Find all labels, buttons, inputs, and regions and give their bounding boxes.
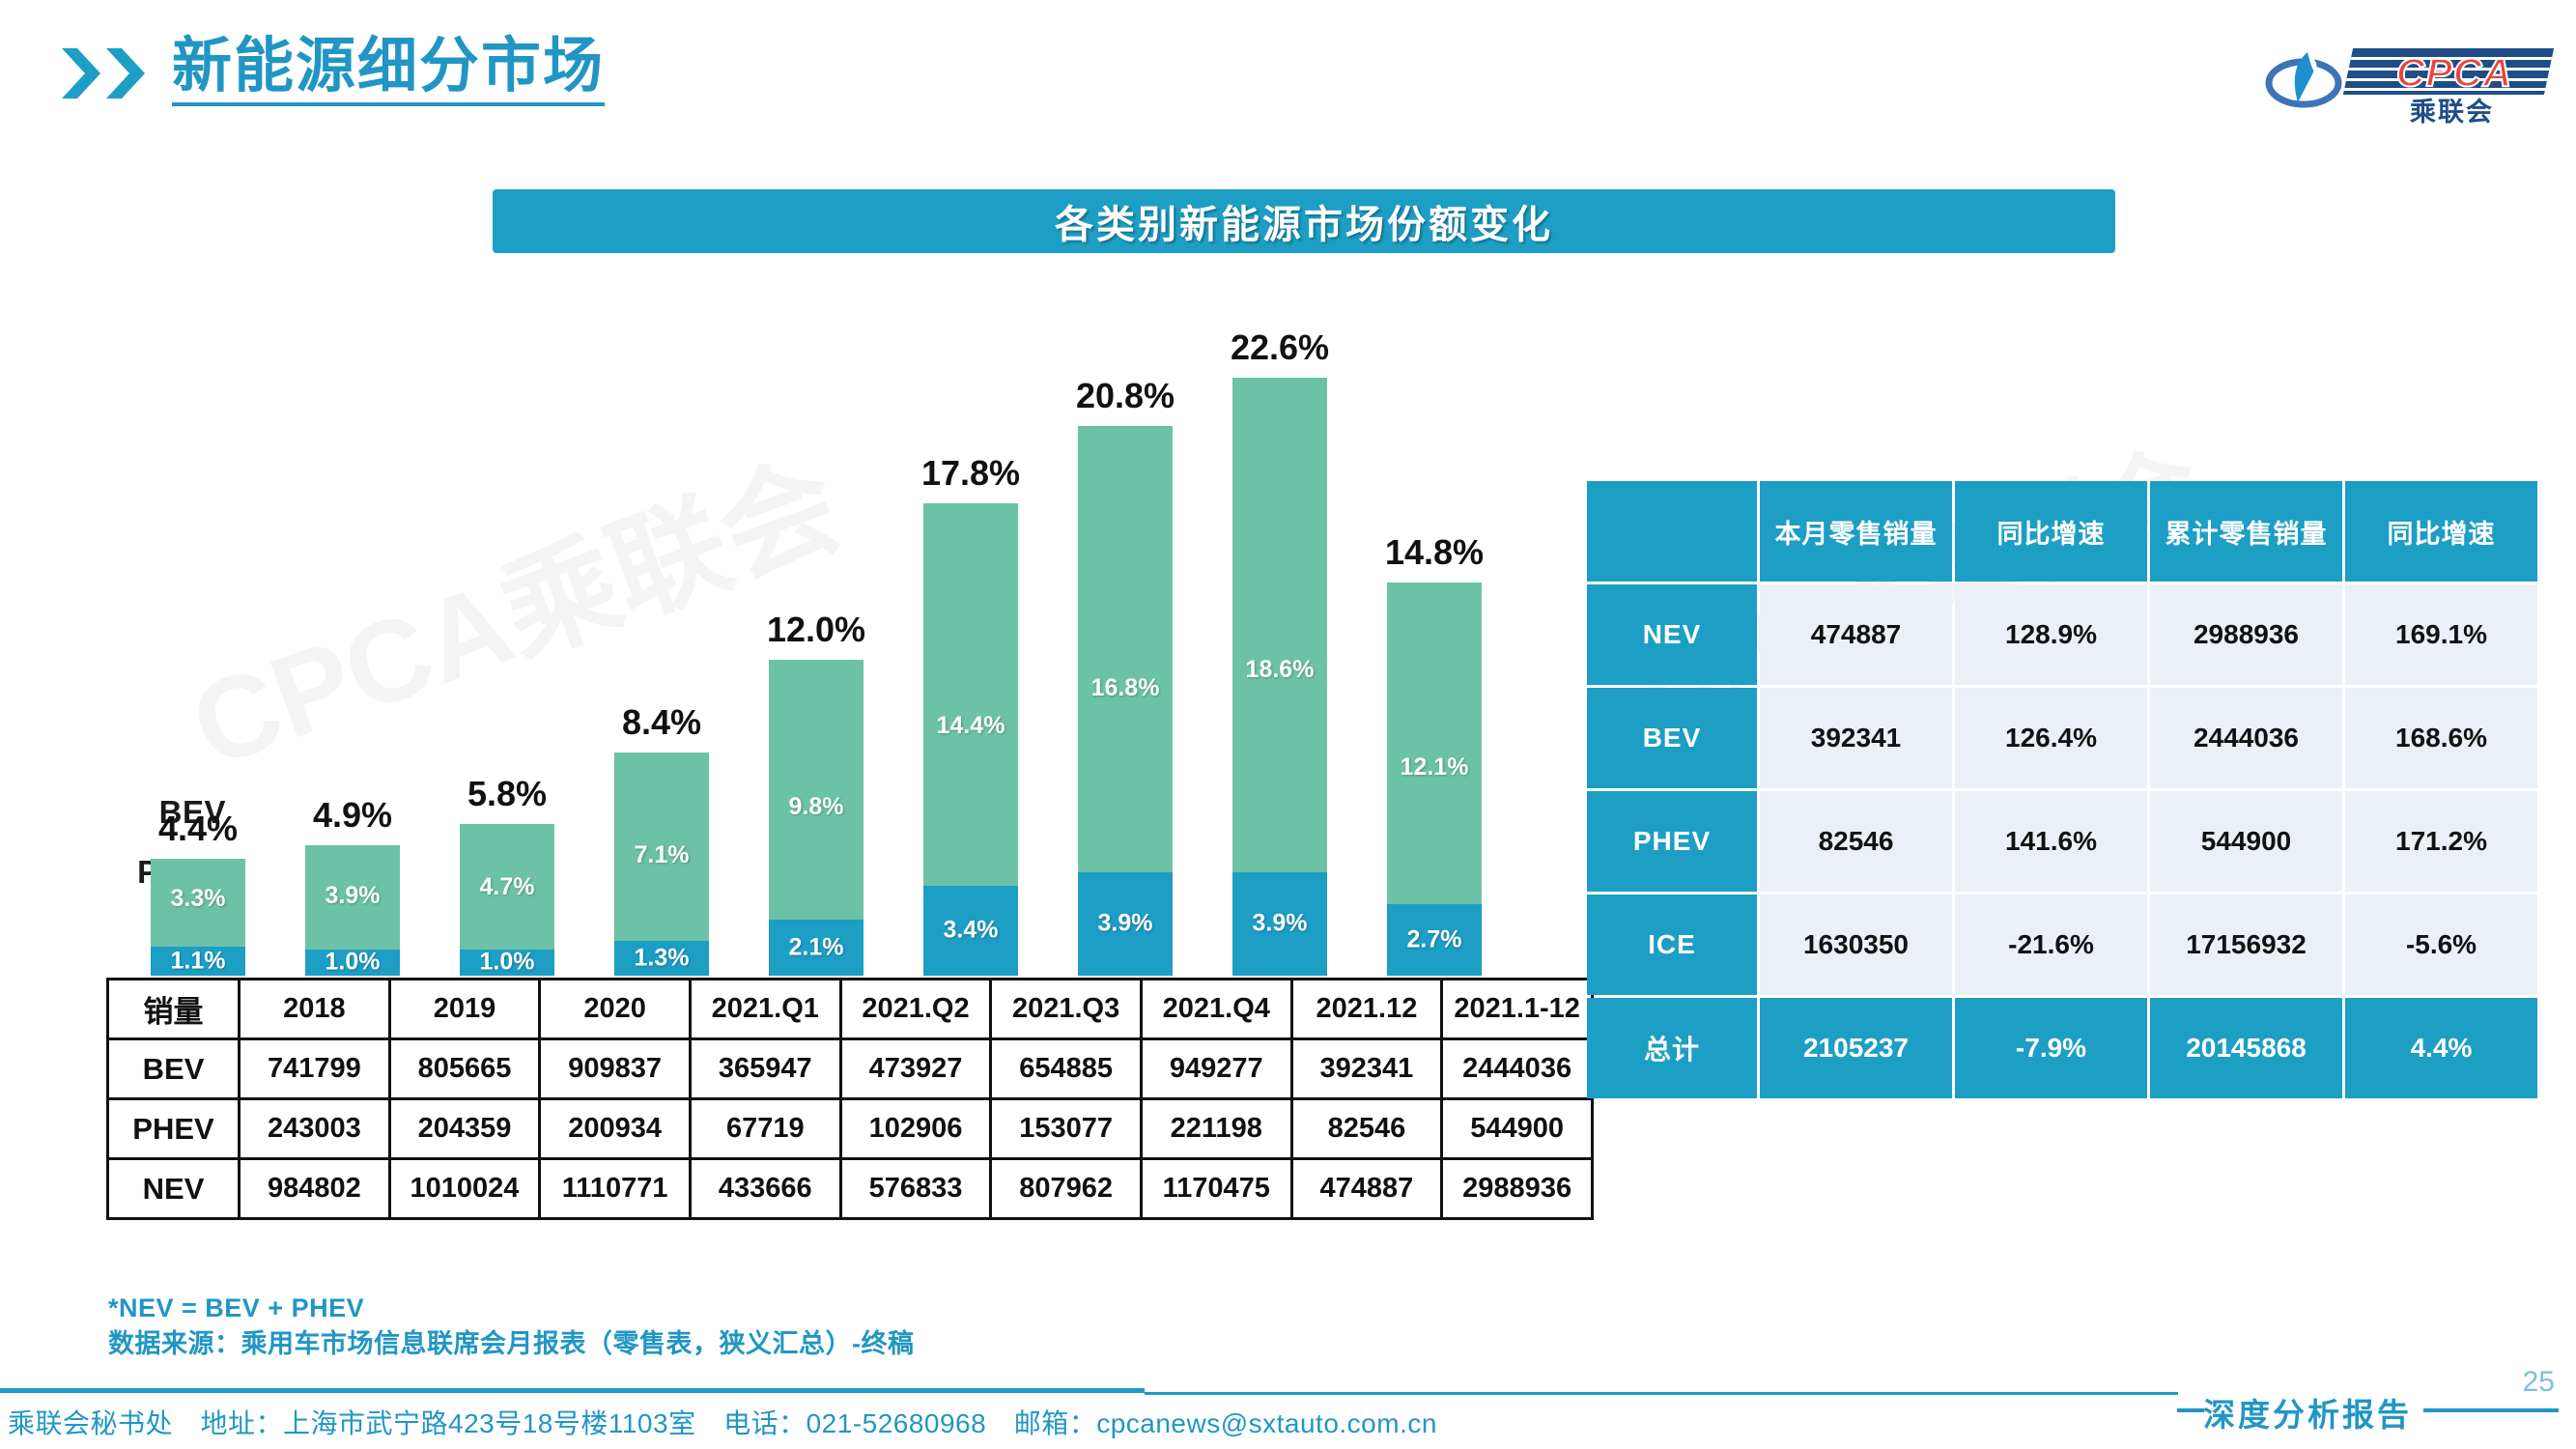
bar-total-label: 5.8% (410, 774, 604, 814)
summary-header-row: 本月零售销量同比增速累计零售销量同比增速 (1587, 481, 2537, 582)
table-cell: 365947 (690, 1039, 840, 1099)
bar-column: 4.4%3.3%1.1% (151, 859, 245, 976)
table-column-header: 2021.Q2 (840, 980, 991, 1039)
bar-total-label: 8.4% (565, 702, 758, 743)
table-corner-header: 销量 (108, 980, 240, 1039)
table-cell: 1110771 (540, 1159, 691, 1219)
table-header-row: 销量2018201920202021.Q12021.Q22021.Q32021.… (108, 980, 1593, 1039)
summary-cell: -5.6% (2345, 895, 2537, 995)
summary-cell: 82546 (1760, 791, 1952, 892)
bar-total-label: 20.8% (1029, 376, 1222, 416)
table-column-header: 2021.Q4 (1141, 980, 1291, 1039)
footnote-line-2: 数据来源：乘用车市场信息联席会月报表（零售表，狭义汇总）-终稿 (108, 1326, 915, 1362)
sales-volume-table: 销量2018201920202021.Q12021.Q22021.Q32021.… (106, 978, 1594, 1220)
cpca-swoosh-icon (2265, 48, 2342, 108)
table-cell: 474887 (1291, 1159, 1442, 1219)
bar-segment-phev: 1.1% (151, 947, 245, 976)
bar-segment-bev: 18.6% (1232, 378, 1327, 872)
cpca-logo: CPCA 乘联会 (2265, 35, 2555, 118)
summary-row: ICE1630350-21.6%17156932-5.6% (1587, 895, 2537, 995)
chart-title: 各类别新能源市场份额变化 (1055, 193, 1553, 249)
page-title: 新能源细分市场 (172, 37, 605, 106)
summary-cell: 1630350 (1760, 895, 1952, 995)
footer-brand-rule (2423, 1408, 2559, 1412)
bar-segment-label-phev: 2.7% (1387, 925, 1482, 953)
summary-cell: 126.4% (1955, 688, 2147, 788)
summary-cell: 20145868 (2150, 998, 2342, 1098)
summary-cell: 2105237 (1760, 998, 1952, 1098)
bar-segment-label-bev: 4.7% (460, 873, 554, 901)
summary-cell: 2988936 (2150, 584, 2342, 685)
logo-acronym: CPCA (2358, 50, 2551, 95)
bar-segment-phev: 3.4% (923, 886, 1018, 977)
table-row-header: NEV (108, 1159, 240, 1219)
bar-segment-bev: 3.9% (305, 845, 400, 949)
bar-total-label: 14.8% (1338, 532, 1531, 573)
footer-brand-dash (2177, 1408, 2204, 1412)
table-cell: 102906 (840, 1099, 991, 1159)
bar-column: 22.6%18.6%3.9% (1232, 378, 1327, 976)
table-cell: 654885 (991, 1039, 1142, 1099)
bar-segment-label-phev: 1.1% (151, 947, 245, 975)
page-number: 25 (2523, 1366, 2555, 1399)
table-row-header: BEV (108, 1039, 240, 1099)
bar-column: 20.8%16.8%3.9% (1078, 426, 1173, 976)
bar-segment-phev: 3.9% (1078, 872, 1173, 976)
bar-segment-label-bev: 18.6% (1232, 656, 1327, 684)
bar-column: 5.8%4.7%1.0% (460, 824, 554, 976)
bar-segment-bev: 9.8% (769, 660, 863, 921)
table-cell: 392341 (1291, 1039, 1442, 1099)
bar-segment-label-bev: 7.1% (614, 841, 709, 869)
table-cell: 1170475 (1141, 1159, 1291, 1219)
table-cell: 984802 (240, 1159, 390, 1219)
bar-segment-bev: 4.7% (460, 824, 554, 949)
table-cell: 949277 (1141, 1039, 1291, 1099)
bar-segment-label-phev: 1.0% (305, 949, 400, 977)
summary-column-header: 同比增速 (1955, 481, 2147, 582)
summary-row: BEV392341126.4%2444036168.6% (1587, 688, 2537, 788)
table-cell: 909837 (540, 1039, 691, 1099)
bar-segment-label-phev: 3.9% (1078, 910, 1173, 938)
table-cell: 433666 (690, 1159, 840, 1219)
logo-chinese-name: 乘联会 (2410, 91, 2494, 128)
bar-column: 14.8%12.1%2.7% (1387, 582, 1482, 976)
bar-total-label: 17.8% (874, 453, 1067, 494)
table-row: PHEV243003204359200934677191029061530772… (108, 1099, 1593, 1159)
table-column-header: 2021.1-12 (1442, 980, 1593, 1039)
table-cell: 200934 (540, 1099, 691, 1159)
summary-corner-header (1587, 481, 1757, 582)
bar-segment-bev: 16.8% (1078, 426, 1173, 872)
table-cell: 82546 (1291, 1099, 1442, 1159)
table-column-header: 2019 (389, 980, 540, 1039)
bar-segment-label-phev: 3.9% (1232, 910, 1327, 938)
table-row: NEV9848021010024111077143366657683380796… (108, 1159, 1593, 1219)
table-cell: 741799 (240, 1039, 390, 1099)
chart-title-banner: 各类别新能源市场份额变化 (493, 189, 2115, 253)
summary-cell: 17156932 (2150, 895, 2342, 995)
table-cell: 1010024 (389, 1159, 540, 1219)
summary-row-header: PHEV (1587, 791, 1757, 892)
bar-segment-bev: 12.1% (1387, 582, 1482, 904)
summary-cell: 128.9% (1955, 584, 2147, 685)
table-cell: 544900 (1442, 1099, 1593, 1159)
table-cell: 2988936 (1442, 1159, 1593, 1219)
summary-row-header: ICE (1587, 895, 1757, 995)
bar-total-label: 22.6% (1183, 327, 1376, 368)
summary-cell: 168.6% (2345, 688, 2537, 788)
summary-cell: 392341 (1760, 688, 1952, 788)
bar-segment-phev: 2.1% (769, 920, 863, 976)
bar-segment-label-phev: 1.0% (460, 949, 554, 977)
bar-segment-phev: 1.3% (614, 941, 709, 976)
summary-column-header: 同比增速 (2345, 481, 2537, 582)
footnote-line-1: *NEV = BEV + PHEV (108, 1291, 915, 1326)
bar-segment-label-phev: 1.3% (614, 945, 709, 973)
summary-row: NEV474887128.9%2988936169.1% (1587, 584, 2537, 685)
summary-row-header: 总计 (1587, 998, 1757, 1098)
summary-column-header: 累计零售销量 (2150, 481, 2342, 582)
bar-column: 17.8%14.4%3.4% (923, 503, 1018, 977)
bar-segment-bev: 7.1% (614, 753, 709, 941)
table-cell: 153077 (991, 1099, 1142, 1159)
summary-cell: 169.1% (2345, 584, 2537, 685)
slide-page: 新能源细分市场 CPCA 乘联会 CPCA乘联会 CPCA乘联会 各类别新能源市… (0, 0, 2576, 1449)
bar-segment-phev: 3.9% (1232, 872, 1327, 976)
bar-segment-phev: 1.0% (460, 950, 554, 977)
bar-segment-label-bev: 3.9% (305, 882, 400, 910)
summary-cell: 4.4% (2345, 998, 2537, 1098)
table-cell: 221198 (1141, 1099, 1291, 1159)
table-row: BEV7417998056659098373659474739276548859… (108, 1039, 1593, 1099)
table-cell: 204359 (389, 1099, 540, 1159)
summary-cell: 544900 (2150, 791, 2342, 892)
table-column-header: 2018 (240, 980, 390, 1039)
summary-column-header: 本月零售销量 (1760, 481, 1952, 582)
table-column-header: 2020 (540, 980, 691, 1039)
table-row-header: PHEV (108, 1099, 240, 1159)
summary-row-header: BEV (1587, 688, 1757, 788)
footer-divider-left (0, 1388, 1145, 1393)
bar-segment-label-bev: 3.3% (151, 885, 245, 913)
summary-cell: -21.6% (1955, 895, 2147, 995)
footer-brand: 深度分析报告 (2203, 1389, 2412, 1435)
table-cell: 805665 (389, 1039, 540, 1099)
summary-cell: 171.2% (2345, 791, 2537, 892)
table-cell: 473927 (840, 1039, 991, 1099)
summary-cell: 474887 (1760, 584, 1952, 685)
summary-cell: -7.9% (1955, 998, 2147, 1098)
table-cell: 243003 (240, 1099, 390, 1159)
table-cell: 2444036 (1442, 1039, 1593, 1099)
summary-cell: 2444036 (2150, 688, 2342, 788)
bar-segment-label-bev: 16.8% (1078, 674, 1173, 702)
bar-segment-label-phev: 2.1% (769, 934, 863, 962)
table-cell: 67719 (690, 1099, 840, 1159)
summary-cell: 141.6% (1955, 791, 2147, 892)
slide-header: 新能源细分市场 CPCA 乘联会 (0, 17, 2576, 110)
bar-segment-phev: 2.7% (1387, 904, 1482, 976)
footer-contact: 乘联会秘书处 地址：上海市武宁路423号18号楼1103室 电话：021-526… (8, 1403, 1437, 1441)
table-cell: 807962 (991, 1159, 1142, 1219)
bar-segment-bev: 3.3% (151, 859, 245, 947)
bar-column: 12.0%9.8%2.1% (769, 660, 863, 976)
summary-total-row: 总计2105237-7.9%201458684.4% (1587, 998, 2537, 1098)
summary-row-header: NEV (1587, 584, 1757, 685)
double-chevron-right-icon (60, 46, 149, 100)
bar-segment-label-bev: 12.1% (1387, 753, 1482, 781)
footer-divider-right (1145, 1392, 2178, 1395)
bar-column: 8.4%7.1%1.3% (614, 753, 709, 976)
bar-total-label: 12.0% (720, 610, 913, 650)
table-column-header: 2021.12 (1291, 980, 1442, 1039)
table-column-header: 2021.Q3 (991, 980, 1142, 1039)
bar-segment-label-bev: 9.8% (769, 793, 863, 821)
footnotes: *NEV = BEV + PHEV 数据来源：乘用车市场信息联席会月报表（零售表… (108, 1291, 915, 1361)
retail-summary-table: 本月零售销量同比增速累计零售销量同比增速 NEV474887128.9%2988… (1584, 478, 2540, 1101)
bar-segment-label-bev: 14.4% (923, 712, 1018, 740)
bar-segment-phev: 1.0% (305, 950, 400, 977)
bar-segment-bev: 14.4% (923, 503, 1018, 886)
stacked-bar-chart: BEV PHEV 4.4%3.3%1.1%4.9%3.9%1.0%5.8%4.7… (106, 270, 1594, 976)
table-column-header: 2021.Q1 (690, 980, 840, 1039)
bar-segment-label-phev: 3.4% (923, 917, 1018, 945)
table-cell: 576833 (840, 1159, 991, 1219)
summary-row: PHEV82546141.6%544900171.2% (1587, 791, 2537, 892)
bar-column: 4.9%3.9%1.0% (305, 845, 400, 976)
